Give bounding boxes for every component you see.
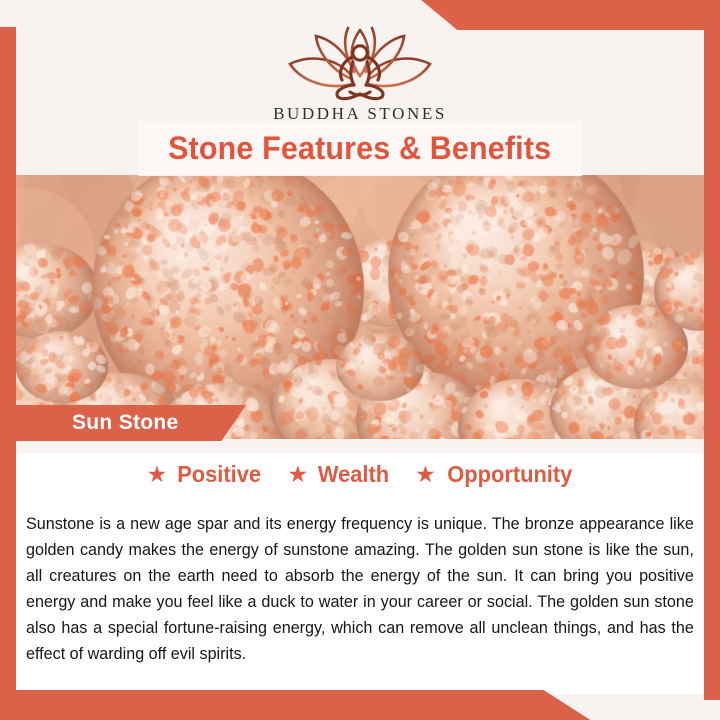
stone-photo [0,171,720,439]
benefit-tag: ★Positive [147,461,264,488]
star-icon: ★ [288,463,309,486]
buddha-lotus-icon [276,24,444,102]
benefit-label: Positive [177,461,261,488]
page-title: Stone Features & Benefits [168,130,551,167]
page-title-banner: Stone Features & Benefits [139,122,581,175]
brand-name: BUDDHA STONES [245,104,475,124]
benefit-label: Opportunity [447,461,572,488]
frame-bar-right [704,0,720,700]
brand-logo: BUDDHA STONES [245,24,475,124]
benefit-tag: ★Wealth [288,461,392,488]
stone-photo-canvas [0,171,720,439]
frame-bar-left [0,27,16,720]
content-panel: ★Positive★Wealth★Opportunity Sunstone is… [16,439,720,694]
star-icon: ★ [415,463,436,486]
stone-description: Sunstone is a new age spar and its energ… [26,511,694,667]
infographic-page: BUDDHA STONES Stone Features & Benefits … [0,0,720,720]
stone-name-ribbon: Sun Stone [0,405,246,441]
benefits-row: ★Positive★Wealth★Opportunity [16,461,706,488]
star-icon: ★ [147,463,168,486]
content-top-tint [16,439,720,453]
benefit-tag: ★Opportunity [415,461,575,488]
frame-bar-bottom [0,690,720,720]
benefit-label: Wealth [318,461,389,488]
stone-name-label: Sun Stone [72,411,179,435]
